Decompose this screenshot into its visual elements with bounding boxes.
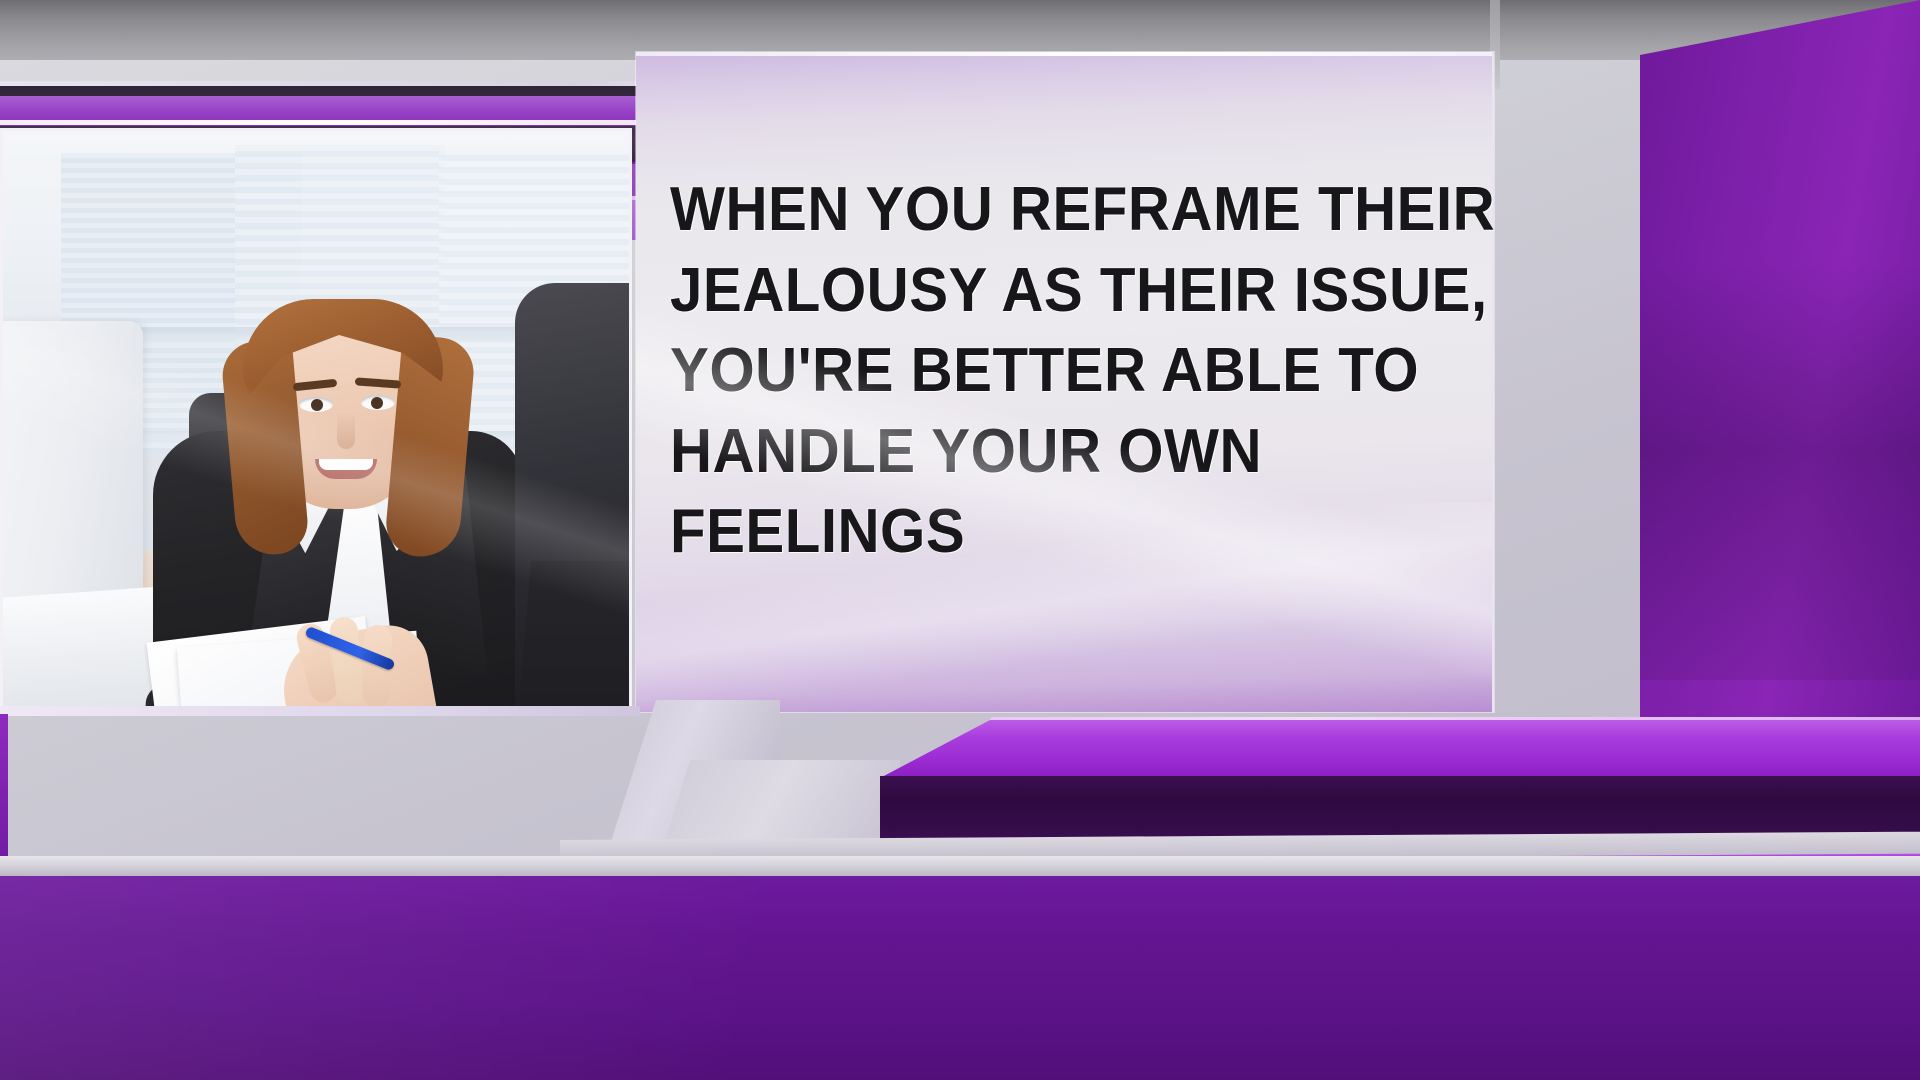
- photo-top-band-highlight: [0, 120, 636, 125]
- bottom-purple-band: [0, 876, 1920, 1080]
- headline-line-2: JEALOUSY AS THEIR ISSUE,: [670, 251, 1416, 332]
- headline-panel: WHEN YOU REFRAME THEIR JEALOUSY AS THEIR…: [636, 52, 1494, 712]
- headline-text: WHEN YOU REFRAME THEIR JEALOUSY AS THEIR…: [670, 170, 1416, 573]
- subject-eye-left: [299, 397, 333, 412]
- broadcast-graphic-stage: WHEN YOU REFRAME THEIR JEALOUSY AS THEIR…: [0, 0, 1920, 1080]
- headline-line-3: YOU'RE BETTER ABLE TO: [670, 331, 1416, 412]
- desk-top-surface: [880, 720, 1920, 778]
- headline-line-5: FEELINGS: [670, 492, 1416, 573]
- subject-nose: [337, 413, 355, 449]
- panel-top-highlight: [636, 52, 1492, 56]
- photo-bottom-rail-highlight: [0, 706, 640, 716]
- left-purple-rail: [0, 714, 8, 876]
- headline-line-4: HANDLE YOUR OWN: [670, 412, 1416, 493]
- subject-teeth: [319, 459, 373, 470]
- headline-line-1: WHEN YOU REFRAME THEIR: [670, 170, 1416, 251]
- photo-inset: [0, 128, 632, 714]
- subject-eye-right: [361, 395, 395, 410]
